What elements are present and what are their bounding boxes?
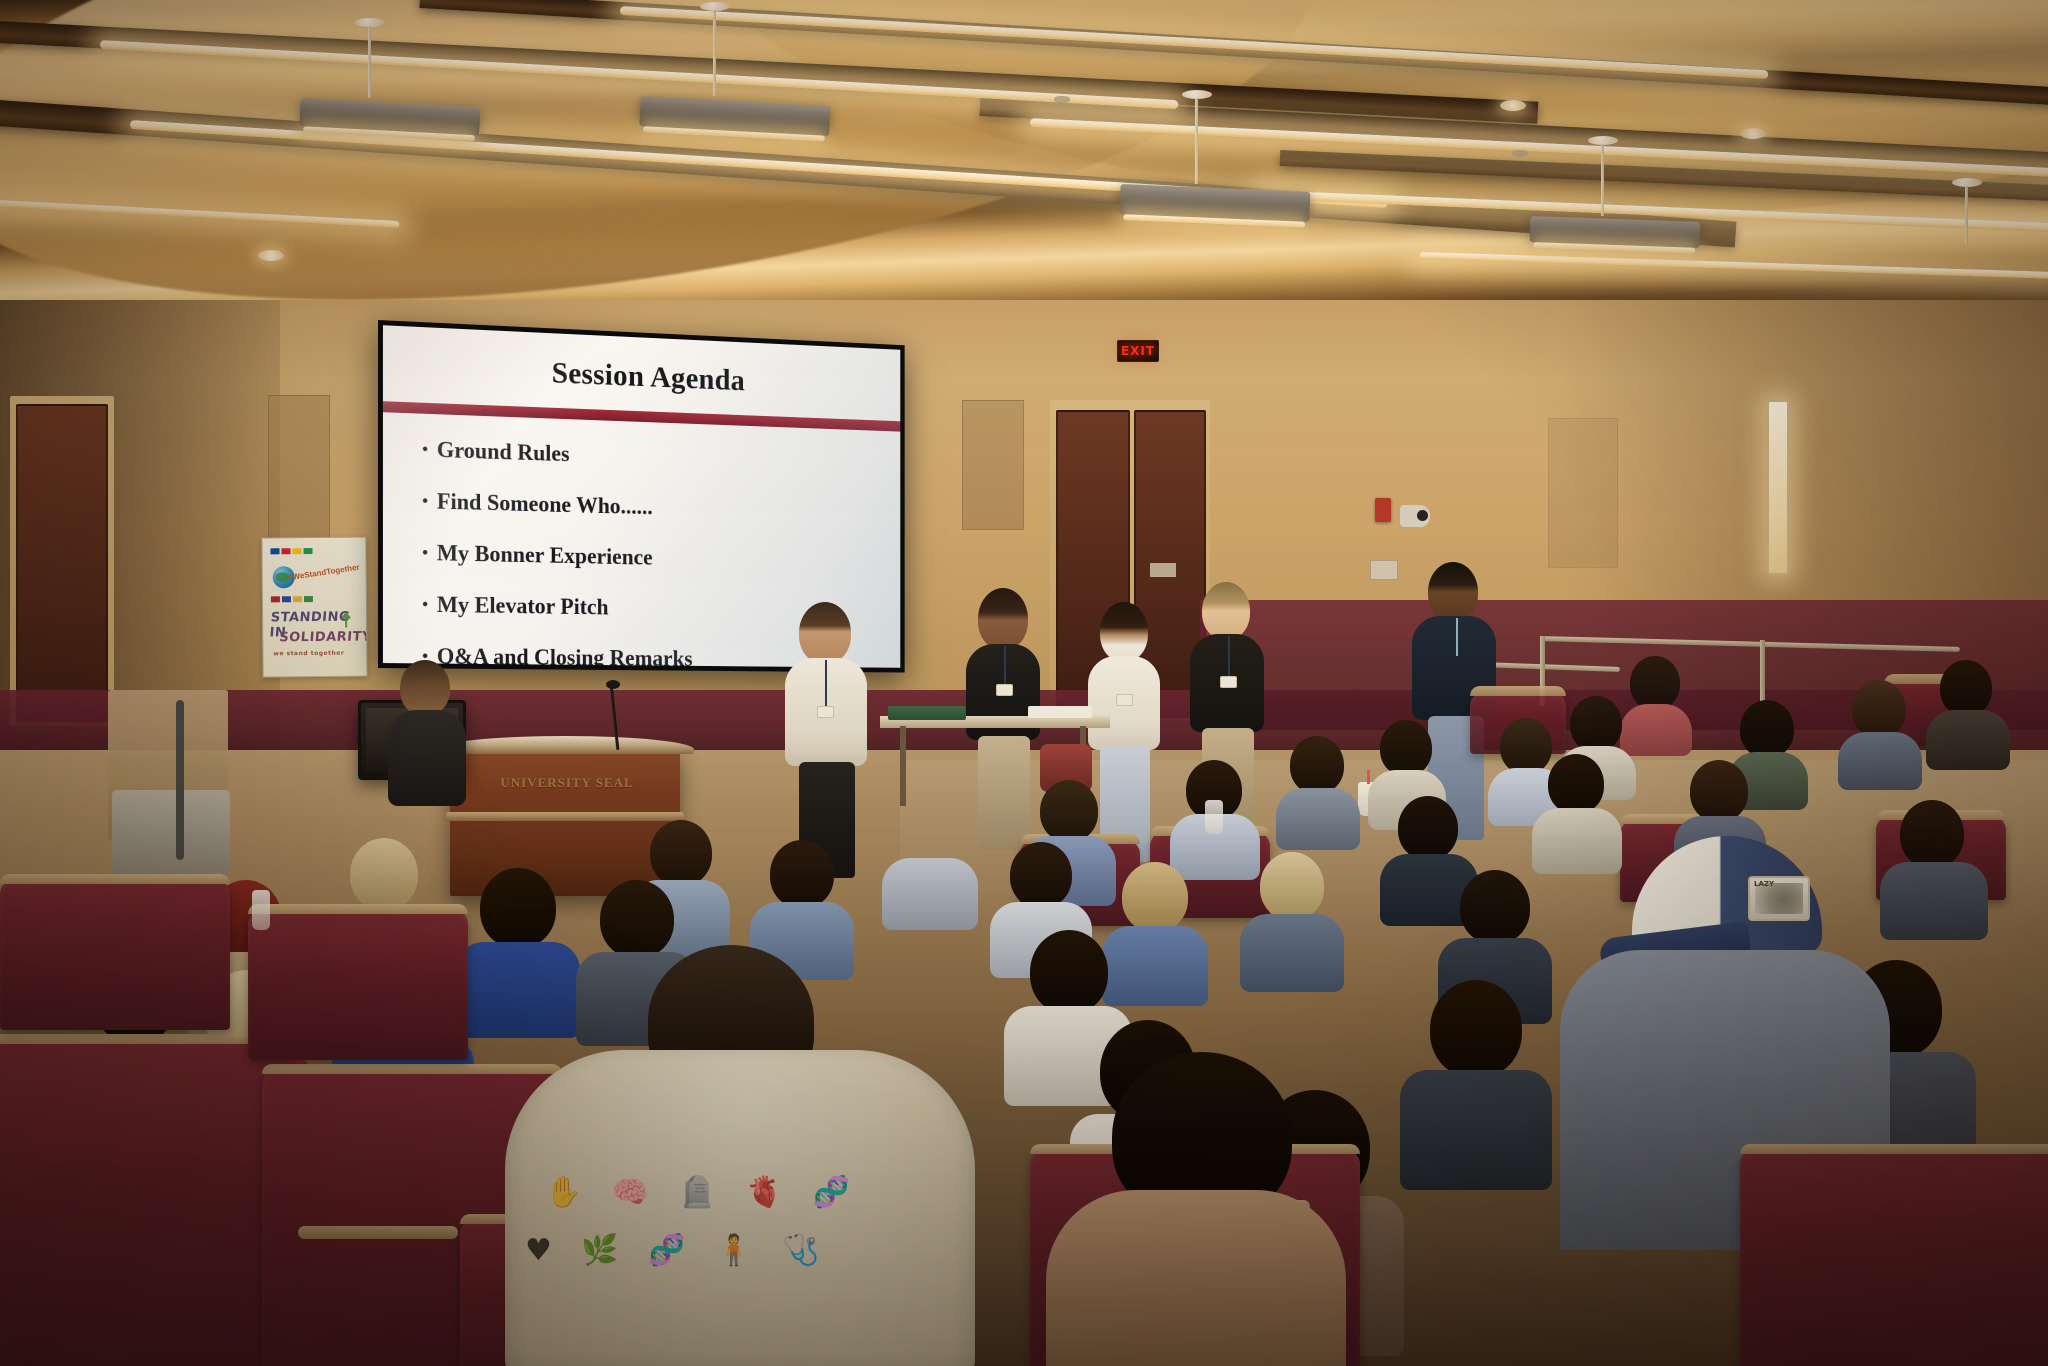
person-head [1630,656,1680,710]
name-badge [996,684,1013,696]
acoustic-wall-panel [962,400,1024,530]
person-head [1460,870,1530,944]
flag-icon [303,548,312,554]
seat-foreground[interactable] [248,910,468,1060]
pendant-stem [1195,98,1198,184]
person-torso [1276,788,1360,850]
poster-handwriting: #WeStandTogether [287,563,360,583]
lanyard [825,660,827,708]
slide-accent-rule [383,401,900,431]
person-torso [1240,914,1344,992]
pendant-stem [1965,186,1968,244]
room-sign [1150,563,1176,577]
green-booklets [888,706,966,720]
solidarity-poster: #WeStandTogether STANDING IN SOLIDARITY … [261,537,367,678]
name-badge [1116,694,1133,706]
flag-icon [293,596,302,602]
acoustic-wall-panel [268,395,330,543]
podium-trim [446,812,684,821]
person-head [978,588,1028,650]
person-head [1940,660,1992,716]
poster-flag-row-bottom [271,596,313,602]
person-torso [388,710,466,806]
lanyard [1228,636,1230,678]
person-head [1690,760,1748,822]
pendant-light-fixture [1530,216,1701,248]
podium: UNIVERSITY SEAL [450,748,680,896]
seat-armrest [298,1226,458,1239]
acoustic-wall-panel [1548,418,1618,568]
person-head [1500,718,1552,774]
flag-icon [304,596,313,602]
slide-bullet: Find Someone Who...... [422,488,883,526]
wall-control-panel[interactable] [1370,560,1398,580]
slide-bullet: My Bonner Experience [422,540,883,575]
sprinkler-head [1512,150,1528,157]
name-badge [817,706,834,718]
person-torso [1838,732,1922,790]
flag-icon [270,548,279,554]
person-head [400,660,450,716]
person-torso [1620,704,1692,756]
person-torso [882,858,978,930]
person-head [480,868,556,948]
recessed-downlight [258,250,284,261]
water-bottle [252,890,270,930]
person-head [1040,780,1098,842]
lanyard [1004,646,1006,686]
security-camera-icon [1400,505,1430,527]
person-head [1290,736,1344,794]
name-badge [1220,676,1237,688]
person-torso [1926,710,2010,770]
poster-flag-row-top [270,548,312,554]
shirt-icon-row-2: ♥ 🌿 🧬 🧍 🩺 [525,1228,925,1366]
seat-foreground[interactable] [0,1040,290,1366]
wood-slat-ceiling [0,0,2048,320]
person-head [1430,980,1522,1078]
flag-icon [292,548,301,554]
table-leg [900,726,906,806]
flag-icon [271,596,280,602]
person-head [1570,696,1622,752]
person-head [1030,930,1108,1014]
water-bottle [1205,800,1223,834]
flag-icon [281,548,290,554]
cap-patch-text: LAZY [1754,880,1774,888]
person-head [900,800,960,864]
person-head [1122,862,1188,932]
person-head [1010,842,1072,908]
slide-title: Session Agenda [383,347,900,404]
recessed-downlight [1500,100,1526,111]
person-head [1548,754,1604,814]
storage-bin [112,790,230,876]
person-torso [1400,1070,1552,1190]
person-head [600,880,674,958]
person-head [1100,602,1148,662]
person-head [1380,720,1432,776]
person-legs [978,736,1030,850]
hand-truck [176,700,184,860]
slide-bullet: Ground Rules [422,437,883,478]
paper-stack [1028,706,1092,718]
person-head [1900,800,1964,868]
person-head [1740,700,1794,758]
person-torso [456,942,580,1038]
microphone-icon [606,680,620,689]
podium-engraving: UNIVERSITY SEAL [472,776,662,804]
person-torso [1532,808,1622,874]
fluorescent-light-strip [1420,252,2048,279]
cap-patch: LAZY [1748,876,1810,921]
graphic-t-shirt: ✋ 🧠 🪦 🫀 🧬 ♥ 🌿 🧬 🧍 🩺 [505,1050,975,1366]
person-head [1202,582,1250,640]
sprinkler-head [1054,96,1070,103]
exit-sign: EXIT [1117,340,1159,362]
person-head [650,820,712,886]
person-torso [1880,862,1988,940]
poster-line-2: SOLIDARITY [279,629,368,645]
vertical-wall-light [1767,400,1789,575]
person-head [1428,562,1478,622]
auditorium-photo: EXIT #WeStandTogether STANDING IN SOLIDA… [0,0,2048,1366]
person-torso [1102,926,1208,1006]
person-torso [1046,1190,1346,1366]
person-head [770,840,834,908]
fire-alarm-icon [1375,498,1391,522]
pendant-stem [713,10,716,96]
recessed-downlight [1740,128,1766,139]
person-head [350,838,418,910]
person-head [1398,796,1458,860]
flag-icon [282,596,291,602]
seat-foreground[interactable] [1740,1150,2048,1366]
seat-foreground[interactable] [0,880,230,1030]
lanyard [1456,618,1458,656]
poster-subtext: we stand together [273,650,344,658]
pendant-stem [1601,144,1604,216]
door-left[interactable] [16,404,108,722]
pendant-stem [368,26,371,98]
person-head [799,602,851,664]
person-head [1852,680,1906,738]
person-head [1260,852,1324,920]
